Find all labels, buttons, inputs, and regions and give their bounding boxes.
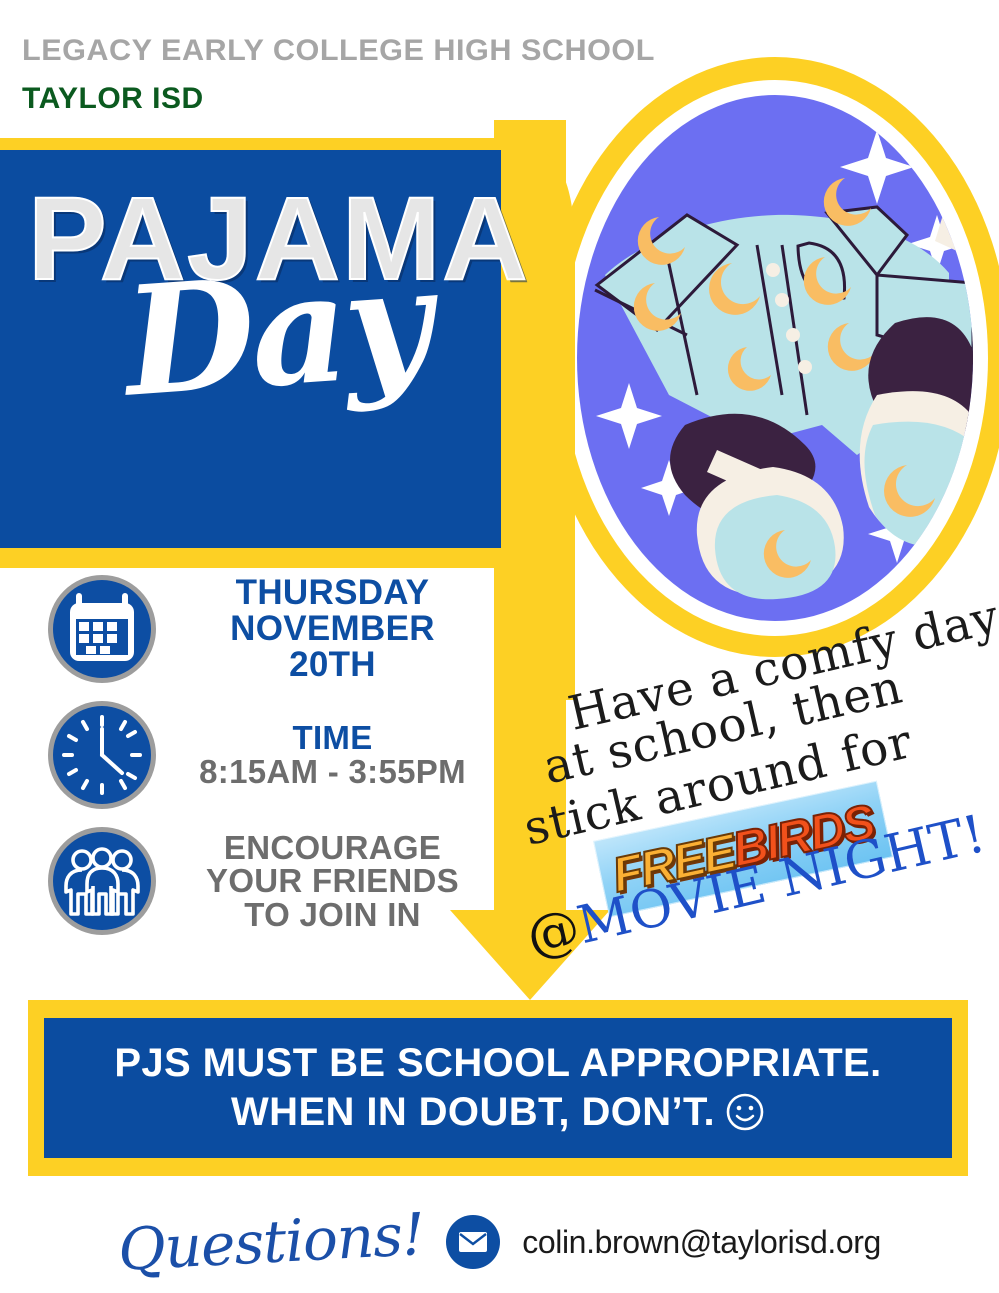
pajama-illustration [577,95,973,621]
school-name: LEGACY EARLY COLLEGE HIGH SCHOOL [22,36,655,66]
detail-line: YOUR FRIENDS [162,864,503,898]
banner-line-2: WHEN IN DOUBT, DON’T. [231,1088,765,1137]
detail-line: 20TH [162,647,503,683]
banner-line-1-text: PJS MUST BE SCHOOL APPROPRIATE. [114,1039,881,1088]
detail-text-friends: ENCOURAGE YOUR FRIENDS TO JOIN IN [156,831,503,932]
detail-text-time: TIME 8:15AM - 3:55PM [156,721,503,788]
contact-email[interactable]: colin.brown@taylorisd.org [522,1224,881,1261]
banner-line-1: PJS MUST BE SCHOOL APPROPRIATE. [114,1039,881,1088]
detail-text-date: THURSDAY NOVEMBER 20TH [156,575,503,682]
detail-row-date: THURSDAY NOVEMBER 20TH [48,575,503,683]
pajama-day-flyer: LEGACY EARLY COLLEGE HIGH SCHOOL TAYLOR … [0,0,999,1293]
comfy-message: Have a comfy day at school, then stick a… [512,628,992,988]
envelope-icon [446,1215,500,1269]
calendar-icon [48,575,156,683]
banner-line-2-text: WHEN IN DOUBT, DON’T. [231,1088,715,1137]
detail-line: THURSDAY [162,575,503,611]
detail-line: NOVEMBER [162,611,503,647]
friends-icon [48,827,156,935]
title-top-accent-bar [0,138,566,150]
clock-icon [48,701,156,809]
detail-row-time: TIME 8:15AM - 3:55PM [48,701,503,809]
title-bottom-accent-bar [0,548,501,568]
detail-line: ENCOURAGE [162,831,503,865]
footer: Questions! colin.brown@taylorisd.org [0,1196,999,1288]
detail-line: TIME [162,721,503,755]
questions-label: Questions! [116,1200,425,1284]
district-name: TAYLOR ISD [22,84,643,114]
detail-line: TO JOIN IN [162,898,503,932]
details-list: THURSDAY NOVEMBER 20TH [48,575,503,953]
smiley-icon [725,1092,765,1132]
rules-banner: PJS MUST BE SCHOOL APPROPRIATE. WHEN IN … [44,1018,952,1158]
detail-line: 8:15AM - 3:55PM [162,755,503,789]
detail-row-friends: ENCOURAGE YOUR FRIENDS TO JOIN IN [48,827,503,935]
header-block: LEGACY EARLY COLLEGE HIGH SCHOOL TAYLOR … [22,36,643,114]
title-day: Day [120,247,432,418]
